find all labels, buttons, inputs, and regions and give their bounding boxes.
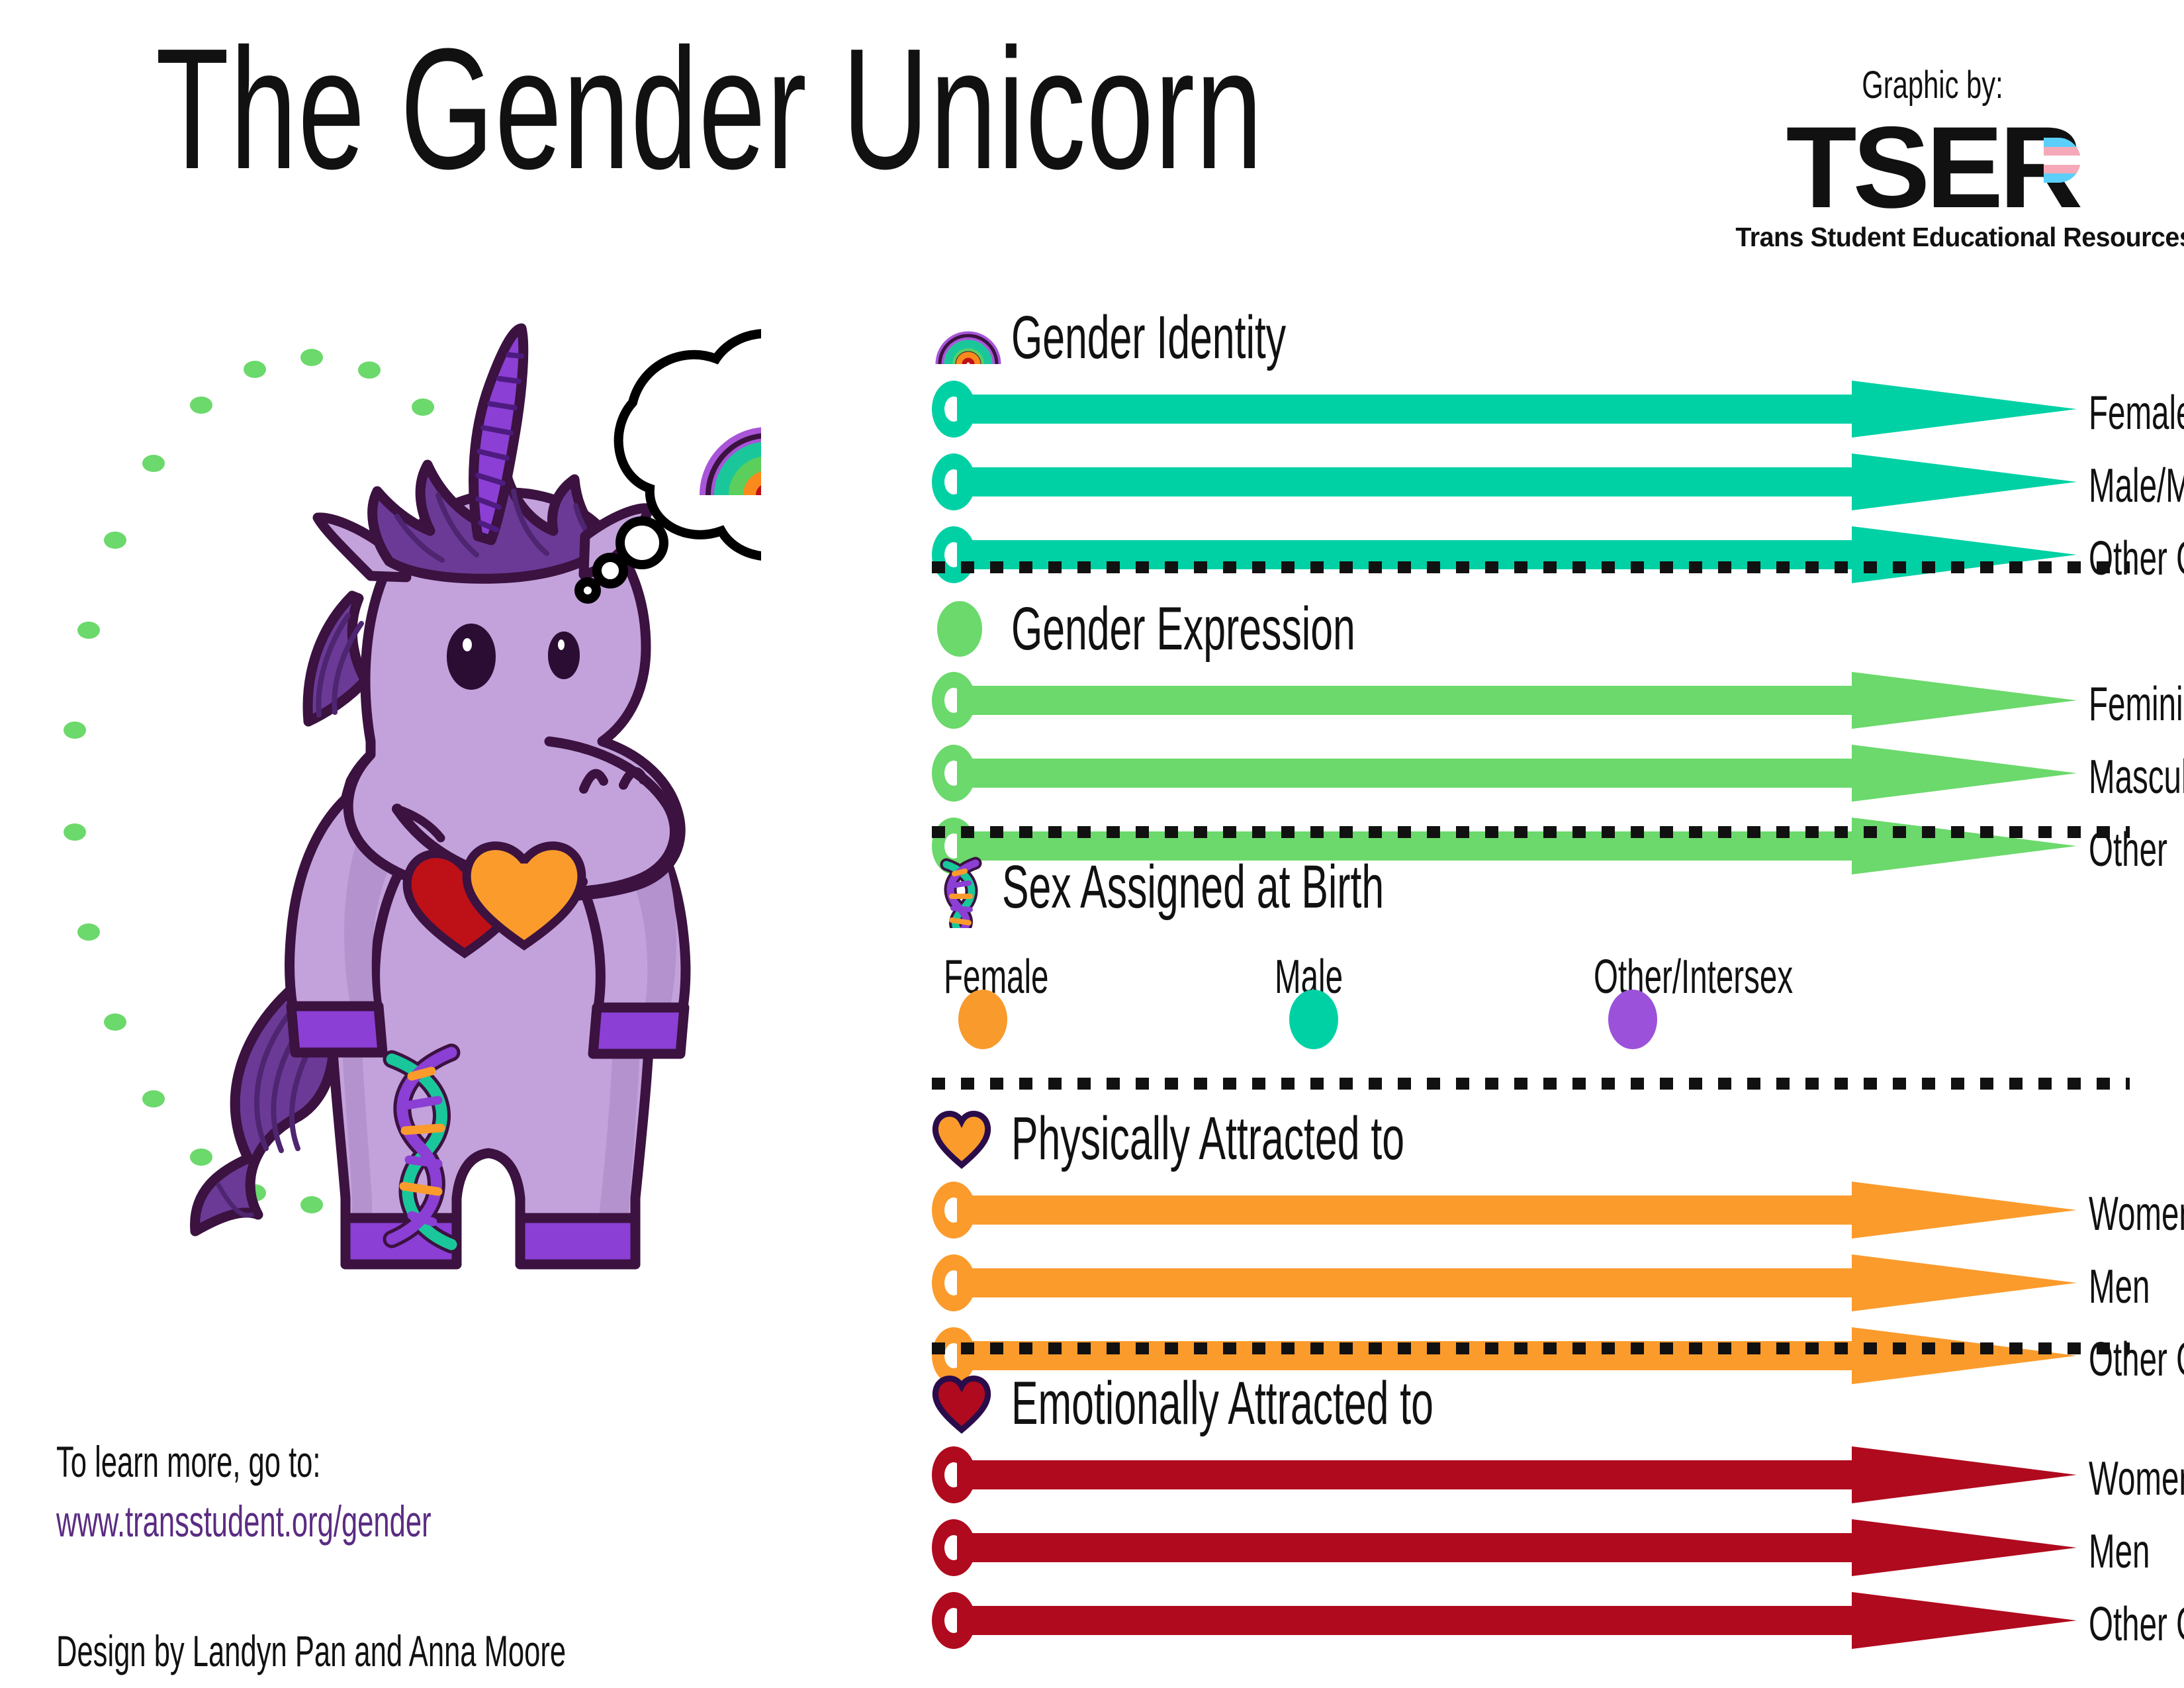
arrow-row[interactable]: Other Gender(s) (932, 526, 2136, 583)
section-header: Sex Assigned at Birth (932, 851, 2136, 923)
arrow-label: Male/Man/Boy (2089, 459, 2184, 513)
arrow-label: Women (2089, 1452, 2184, 1506)
decorative-dot (104, 532, 126, 549)
divider-4 (932, 1342, 2130, 1354)
arrow-bar (957, 1606, 1852, 1635)
arrow-head (1852, 672, 2077, 729)
arrow-label: Other Gender(s) (2089, 1597, 2184, 1652)
arrow-row[interactable]: Female/Woman/Girl (932, 381, 2136, 438)
decorative-dot (142, 1090, 165, 1107)
emotionally-attracted-arrows: WomenMenOther Gender(s) (932, 1446, 2136, 1649)
red-heart-icon (932, 1372, 1005, 1435)
arrow-bar (957, 1268, 1852, 1297)
tser-full-name: Trans Student Educational Resources (1735, 222, 2129, 253)
section-title: Sex Assigned at Birth (1002, 853, 1384, 922)
arrow-label: Other Gender(s) (2089, 532, 2184, 586)
arrow-head (1852, 1446, 2077, 1503)
sex-dots-row: FemaleMaleOther/Intersex (932, 923, 2136, 1076)
tser-wordmark: TSER (1786, 110, 2079, 226)
learn-more-label: To learn more, go to: (56, 1436, 566, 1487)
section-title: Gender Identity (1011, 303, 1286, 373)
arrow-head (1852, 1519, 2077, 1576)
arrow-row[interactable]: Male/Man/Boy (932, 453, 2136, 510)
arrow-label: Men (2089, 1524, 2150, 1579)
gender-expression-arrows: FeminineMasculineOther (932, 672, 2136, 874)
gender-identity-arrows: Female/Woman/GirlMale/Man/BoyOther Gende… (932, 381, 2136, 583)
divider-1 (932, 561, 2130, 573)
arrow-head (1852, 381, 2077, 438)
arrow-head (1852, 526, 2077, 583)
arrow-head (1852, 1254, 2077, 1311)
arrow-head (1852, 1592, 2077, 1649)
arrow-head (1852, 745, 2077, 802)
arrow-head (1852, 453, 2077, 510)
arrow-bar (957, 759, 1852, 788)
arrow-bar (957, 395, 1852, 424)
section-header: Physically Attracted to (932, 1102, 2136, 1175)
section-title: Emotionally Attracted to (1011, 1369, 1433, 1438)
arrow-head (1852, 1182, 2077, 1239)
arrow-row[interactable]: Women (932, 1446, 2136, 1503)
tser-logo: Graphic by: TSER Trans Student Education… (1727, 63, 2138, 253)
rainbow-icon (932, 306, 1005, 369)
section-gender-identity: Gender Identity Female/Woman/GirlMale/Ma… (932, 301, 2136, 583)
dna-icon (932, 855, 991, 919)
graphic-by-label: Graphic by: (1785, 63, 2080, 107)
arrow-row[interactable]: Other Gender(s) (932, 1592, 2136, 1649)
website-link[interactable]: www.transstudent.org/gender (56, 1496, 566, 1546)
arrow-label: Feminine (2089, 677, 2184, 731)
arrow-row[interactable]: Women (932, 1182, 2136, 1239)
sex-option-dot[interactable] (1289, 990, 1338, 1049)
orange-heart-icon (932, 1107, 1005, 1170)
arrow-bar (957, 1196, 1852, 1225)
arrow-row[interactable]: Masculine (932, 745, 2136, 802)
arrow-bar (957, 467, 1852, 496)
unicorn-illustration (179, 318, 761, 1350)
section-title: Physically Attracted to (1011, 1104, 1404, 1174)
design-credit: Design by Landyn Pan and Anna Moore (56, 1626, 566, 1676)
section-header: Emotionally Attracted to (932, 1367, 2136, 1440)
page-title: The Gender Unicorn (156, 23, 1739, 195)
section-sex-assigned-at-birth: Sex Assigned at Birth FemaleMaleOther/In… (932, 851, 2136, 1076)
section-header: Gender Expression (932, 592, 2136, 665)
divider-3 (932, 1078, 2130, 1090)
arrow-label: Women (2089, 1187, 2184, 1241)
decorative-dot (64, 722, 86, 739)
footer: To learn more, go to: www.transstudent.o… (56, 1436, 829, 1685)
decorative-dot (142, 455, 165, 472)
decorative-dot (104, 1013, 126, 1031)
tser-wordmark-text: TSER (1786, 103, 2079, 232)
decorative-dot (77, 923, 100, 941)
arrow-label: Female/Woman/Girl (2089, 386, 2184, 440)
arrow-label: Men (2089, 1260, 2150, 1314)
arrow-bar (957, 1460, 1852, 1489)
section-emotionally-attracted-to: Emotionally Attracted to WomenMenOther G… (932, 1367, 2136, 1649)
section-title: Gender Expression (1011, 594, 1355, 664)
decorative-dot (77, 622, 100, 639)
arrow-label: Masculine (2089, 750, 2184, 804)
divider-2 (932, 826, 2130, 838)
arrow-bar (957, 686, 1852, 715)
green-circle-icon (932, 597, 1005, 661)
section-header: Gender Identity (932, 301, 2136, 374)
decorative-dot (64, 823, 86, 841)
sex-option-dot[interactable] (1608, 990, 1657, 1049)
arrow-row[interactable]: Men (932, 1254, 2136, 1311)
sex-option-dot[interactable] (958, 990, 1007, 1049)
arrow-row[interactable]: Feminine (932, 672, 2136, 729)
arrow-row[interactable]: Men (932, 1519, 2136, 1576)
arrow-bar (957, 1533, 1852, 1562)
